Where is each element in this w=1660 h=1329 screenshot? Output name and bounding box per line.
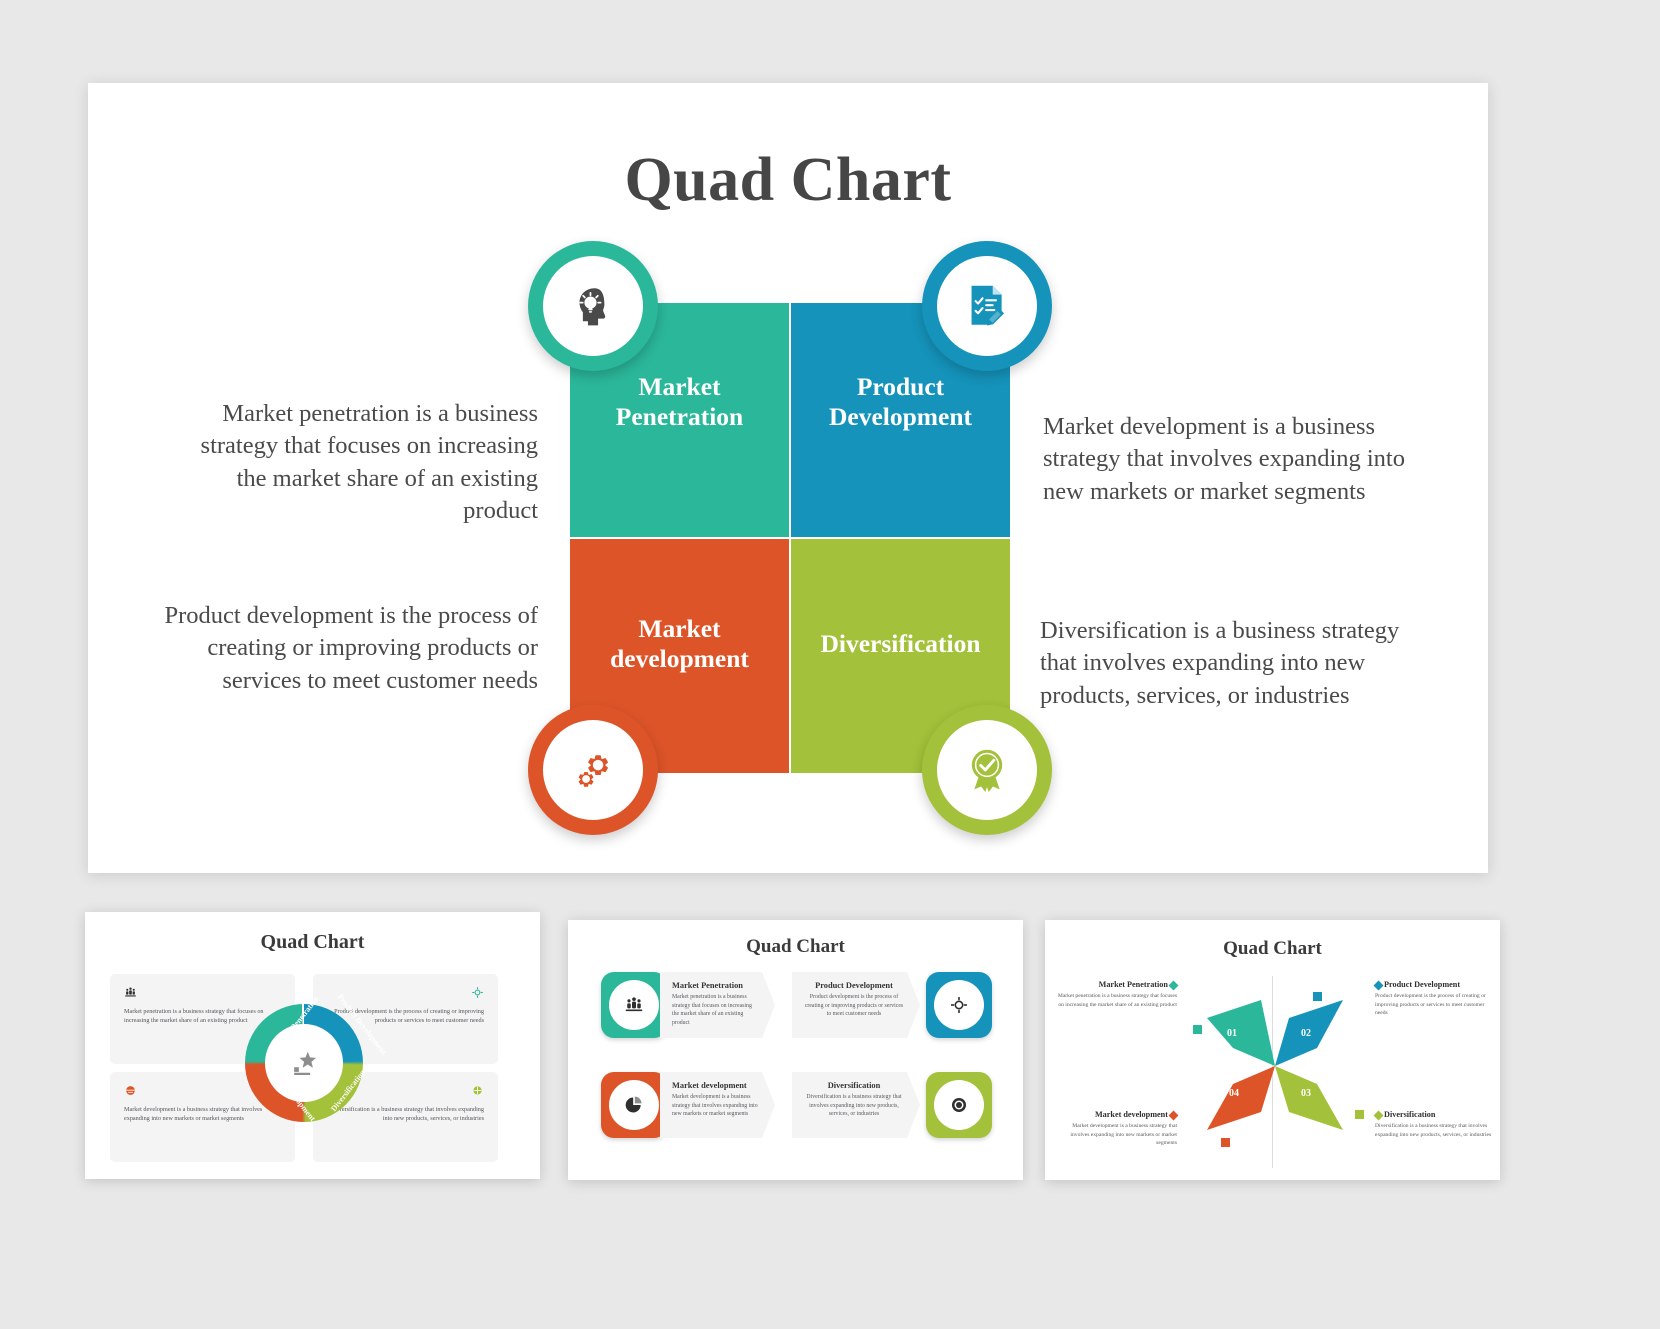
quadrant-label-product-development: ProductDevelopment — [817, 372, 984, 432]
legend-diamond-icon — [1374, 980, 1384, 990]
legend-text-market-penetration: Market penetration is a business strateg… — [1055, 992, 1177, 1009]
legend-heading-text: Product Development — [1384, 980, 1460, 989]
description-market-development: Product development is the process of cr… — [163, 600, 538, 697]
compass-icon — [934, 1080, 984, 1130]
badge-market-penetration[interactable] — [528, 241, 658, 371]
badge-product-development[interactable] — [922, 241, 1052, 371]
legend-market-development[interactable]: Market development Market development is… — [1055, 1110, 1177, 1148]
legend-diamond-icon — [1169, 1110, 1179, 1120]
main-slide: Quad Chart MarketPenetration ProductDeve… — [88, 83, 1488, 873]
head-lightbulb-icon — [543, 256, 643, 356]
thumb2-card-market-development[interactable]: Market development Market development is… — [660, 1072, 775, 1138]
target-icon — [934, 980, 984, 1030]
thumb2-heading-market-penetration: Market Penetration — [672, 981, 759, 990]
thumb2-text-diversification: Diversification is a business strategy t… — [804, 1093, 904, 1119]
thumb2-text-product-development: Product development is the process of cr… — [804, 993, 904, 1019]
thumbnail-title: Quad Chart — [85, 931, 540, 954]
thumb1-text-market-penetration: Market penetration is a business strateg… — [124, 1007, 281, 1026]
people-group-icon — [609, 980, 659, 1030]
thumb2-heading-market-development: Market development — [672, 1081, 759, 1090]
thumbnail-title: Quad Chart — [1045, 938, 1500, 960]
quadrant-label-market-penetration: MarketPenetration — [604, 372, 755, 432]
thumb2-icon-product-development[interactable] — [926, 972, 992, 1038]
thumb2-card-product-development[interactable]: Product Development Product development … — [792, 972, 920, 1038]
thumb2-icon-market-development[interactable] — [601, 1072, 667, 1138]
people-group-icon — [124, 986, 281, 1001]
quadrant-label-market-development: Marketdevelopment — [598, 614, 761, 674]
badge-diversification[interactable] — [922, 705, 1052, 835]
page-title: Quad Chart — [88, 145, 1488, 216]
badge-market-development[interactable] — [528, 705, 658, 835]
pinwheel-blade-04[interactable]: 04 — [1205, 1064, 1277, 1134]
legend-diamond-icon — [1374, 1110, 1384, 1120]
accent-square-teal — [1193, 1025, 1202, 1034]
legend-text-diversification: Diversification is a business strategy t… — [1375, 1122, 1493, 1139]
description-diversification: Diversification is a business strategy t… — [1040, 615, 1420, 712]
thumb1-text-diversification: Diversification is a business strategy t… — [327, 1105, 484, 1124]
thumbnail-chevron-layout[interactable]: Quad Chart Market Penetration Market pen… — [568, 920, 1023, 1180]
thumb2-heading-diversification: Diversification — [804, 1081, 904, 1090]
quadrant-label-diversification: Diversification — [808, 629, 992, 659]
legend-heading-market-penetration: Market Penetration — [1055, 980, 1177, 989]
thumbnail-title: Quad Chart — [568, 936, 1023, 958]
thumb2-text-market-penetration: Market penetration is a business strateg… — [672, 993, 759, 1028]
legend-heading-text: Market development — [1095, 1110, 1168, 1119]
legend-heading-text: Diversification — [1384, 1110, 1435, 1119]
blade-number-01: 01 — [1227, 1028, 1237, 1039]
pinwheel-blade-02[interactable]: 02 — [1273, 998, 1345, 1068]
legend-heading-text: Market Penetration — [1099, 980, 1168, 989]
legend-diamond-icon — [1169, 980, 1179, 990]
thumb2-heading-product-development: Product Development — [804, 981, 904, 990]
quad-chart-diagram: MarketPenetration ProductDevelopment Mar… — [570, 303, 1010, 773]
legend-market-penetration[interactable]: Market Penetration Market penetration is… — [1055, 980, 1177, 1009]
legend-diversification[interactable]: Diversification Diversification is a bus… — [1375, 1110, 1493, 1139]
gears-icon — [543, 720, 643, 820]
pinwheel-blade-03[interactable]: 03 — [1273, 1064, 1345, 1134]
pinwheel-blade-01[interactable]: 01 — [1205, 998, 1277, 1068]
thumbnail-pinwheel-layout[interactable]: Quad Chart 01 02 03 04 Market Penetratio… — [1045, 920, 1500, 1180]
accent-square-orange — [1221, 1138, 1230, 1147]
legend-heading-market-development: Market development — [1055, 1110, 1177, 1119]
blade-number-04: 04 — [1229, 1088, 1239, 1099]
blade-number-03: 03 — [1301, 1088, 1311, 1099]
description-market-penetration: Market penetration is a business strateg… — [168, 398, 538, 527]
accent-square-blue — [1313, 992, 1322, 1001]
thumbnail-donut-layout[interactable]: Quad Chart Market penetration is a busin… — [85, 912, 540, 1179]
thumb1-text-market-development: Market development is a business strateg… — [124, 1105, 281, 1124]
thumb2-icon-market-penetration[interactable] — [601, 972, 667, 1038]
blade-number-02: 02 — [1301, 1028, 1311, 1039]
pie-chart-icon — [609, 1080, 659, 1130]
legend-product-development[interactable]: Product Development Product development … — [1375, 980, 1493, 1018]
award-check-icon — [937, 720, 1037, 820]
legend-text-product-development: Product development is the process of cr… — [1375, 992, 1493, 1018]
thumb2-card-diversification[interactable]: Diversification Diversification is a bus… — [792, 1072, 920, 1138]
legend-text-market-development: Market development is a business strateg… — [1055, 1122, 1177, 1148]
checklist-pencil-icon — [937, 256, 1037, 356]
thumb2-text-market-development: Market development is a business strateg… — [672, 1093, 759, 1119]
thumb2-card-market-penetration[interactable]: Market Penetration Market penetration is… — [660, 972, 775, 1038]
target-icon — [327, 986, 484, 1001]
accent-square-green — [1355, 1110, 1364, 1119]
legend-heading-product-development: Product Development — [1375, 980, 1493, 989]
thumb2-icon-diversification[interactable] — [926, 1072, 992, 1138]
legend-heading-diversification: Diversification — [1375, 1110, 1493, 1119]
description-product-development: Market development is a business strateg… — [1043, 411, 1423, 508]
